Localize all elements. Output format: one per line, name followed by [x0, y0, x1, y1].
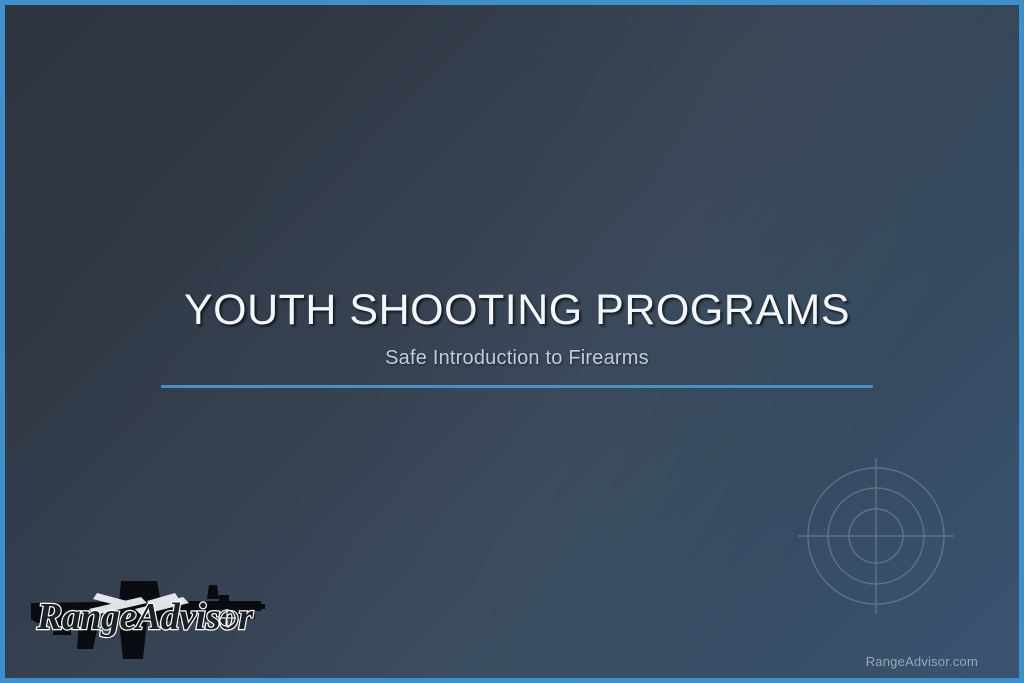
presentation-slide: YOUTH SHOOTING PROGRAMS Safe Introductio…: [0, 0, 1024, 683]
page-title: YOUTH SHOOTING PROGRAMS: [5, 287, 1024, 333]
crosshair-target-icon: [792, 452, 960, 620]
footer-website: RangeAdvisor.com: [866, 654, 978, 669]
logo-wordmark: RangeAdvisor: [36, 596, 254, 638]
title-block: YOUTH SHOOTING PROGRAMS Safe Introductio…: [5, 287, 1024, 370]
accent-divider: [161, 385, 873, 388]
brand-logo: RangeAdvisor: [23, 571, 273, 665]
page-subtitle: Safe Introduction to Firearms: [5, 347, 1024, 370]
